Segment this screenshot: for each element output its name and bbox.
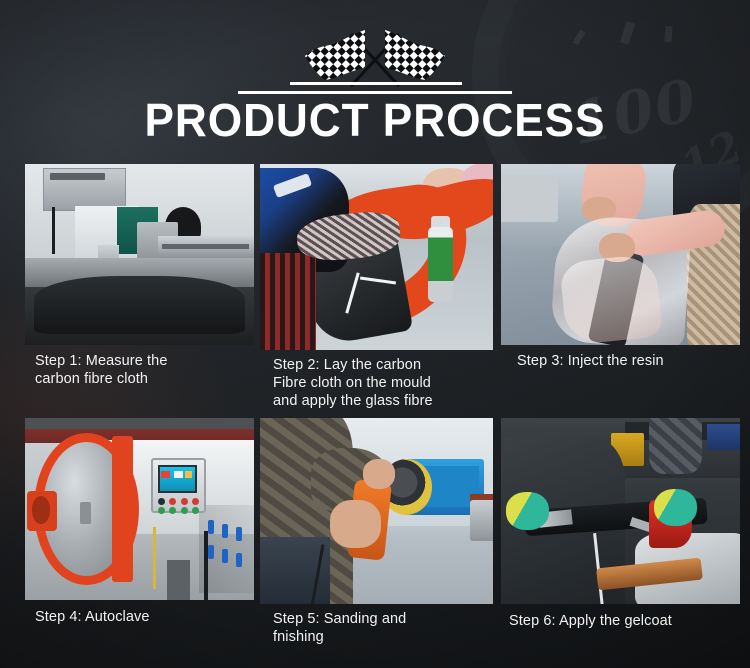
divider-line-short	[290, 82, 462, 85]
step-2-photo	[260, 164, 493, 350]
step-4-caption: Step 4: Autoclave	[35, 608, 247, 626]
checkered-flags-icon	[295, 26, 455, 88]
step-5-photo	[260, 418, 493, 604]
step-1-photo	[25, 164, 254, 345]
product-process-banner: 100 12	[0, 0, 750, 668]
step-card-6[interactable]: Step 6: Apply the gelcoat	[495, 414, 750, 668]
banner-header: PRODUCT PROCESS	[0, 0, 750, 160]
step-4-photo	[25, 418, 254, 600]
step-1-caption: Step 1: Measure the carbon fibre cloth	[35, 352, 247, 388]
step-5-caption: Step 5: Sanding and fnishing	[273, 610, 498, 646]
step-card-4[interactable]: Step 4: Autoclave	[0, 414, 250, 668]
step-2-caption: Step 2: Lay the carbon Fibre cloth on th…	[273, 356, 498, 410]
process-steps-grid: Step 1: Measure the carbon fibre cloth S…	[0, 160, 750, 668]
step-3-caption: Step 3: Inject the resin	[517, 352, 745, 370]
step-6-photo	[501, 418, 740, 604]
step-card-2[interactable]: Step 2: Lay the carbon Fibre cloth on th…	[250, 160, 495, 414]
step-card-3[interactable]: Step 3: Inject the resin	[495, 160, 750, 414]
step-3-photo	[501, 164, 740, 345]
page-title: PRODUCT PROCESS	[15, 96, 735, 144]
step-6-caption: Step 6: Apply the gelcoat	[509, 612, 741, 630]
step-card-1[interactable]: Step 1: Measure the carbon fibre cloth	[0, 160, 250, 414]
step-card-5[interactable]: Step 5: Sanding and fnishing	[250, 414, 495, 668]
